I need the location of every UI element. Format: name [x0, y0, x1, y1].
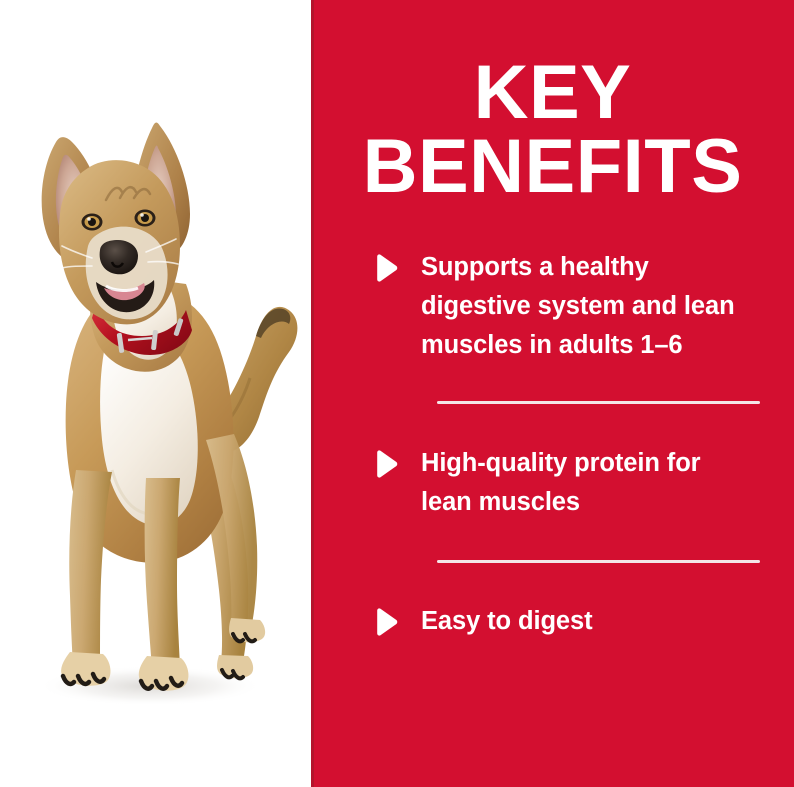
play-triangle-icon: [373, 254, 399, 283]
benefit-text-3: Easy to digest: [421, 602, 593, 641]
dog-photo-panel: [0, 0, 311, 787]
key-benefits-card: KEY BENEFITS Supports a healthy digestiv…: [0, 0, 794, 787]
benefit-item-1: Supports a healthy digestive system and …: [311, 248, 794, 365]
benefit-item-2: High-quality protein for lean muscles: [311, 444, 794, 522]
benefit-list: Supports a healthy digestive system and …: [311, 248, 794, 641]
benefit-item-3: Easy to digest: [311, 602, 794, 641]
dog-photo: [0, 0, 311, 787]
page-title: KEY BENEFITS: [311, 56, 794, 204]
dog-head: [59, 160, 180, 324]
benefit-text-1: Supports a healthy digestive system and …: [421, 248, 741, 365]
benefit-text-2: High-quality protein for lean muscles: [421, 444, 741, 522]
benefits-panel: KEY BENEFITS Supports a healthy digestiv…: [311, 0, 794, 787]
play-triangle-icon: [373, 608, 399, 637]
play-triangle-icon: [373, 450, 399, 479]
